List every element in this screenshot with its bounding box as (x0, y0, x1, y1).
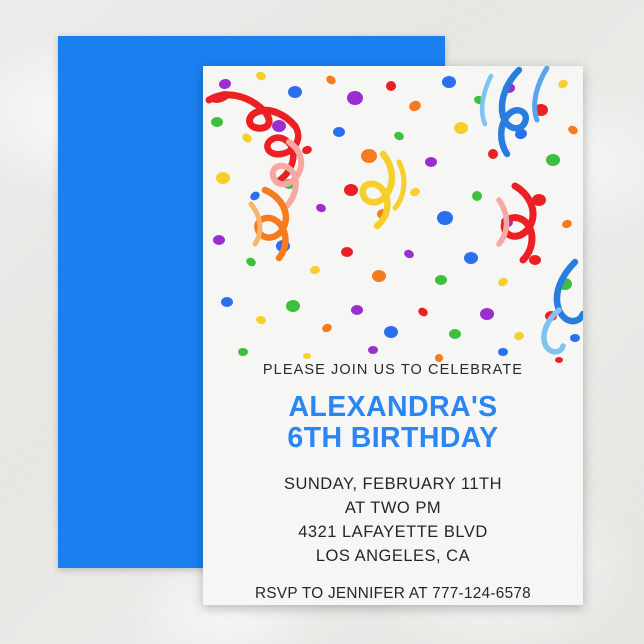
confetti-dot (344, 184, 358, 196)
confetti-dot (449, 329, 461, 339)
confetti-dot (325, 74, 338, 86)
confetti-dot (249, 190, 262, 202)
confetti-dot-group (211, 71, 580, 363)
confetti-dot (286, 300, 300, 312)
confetti-dot (368, 346, 378, 354)
confetti-dot (372, 270, 386, 282)
confetti-dot (425, 157, 437, 167)
rsvp-line: RSVP TO JENNIFER AT 777-124-6578 (203, 585, 583, 603)
confetti-dot (472, 191, 482, 201)
confetti-dot (377, 209, 389, 219)
confetti-dot (513, 331, 525, 341)
confetti-dot (255, 315, 267, 326)
confetti-dot (301, 145, 313, 156)
confetti-dot (333, 127, 345, 137)
confetti-dot (283, 179, 295, 189)
confetti-dot (221, 297, 233, 307)
confetti-artwork (203, 66, 583, 366)
confetti-dot (570, 334, 580, 342)
confetti-dot (361, 149, 377, 163)
confetti-dot (245, 256, 258, 268)
confetti-dot (567, 124, 580, 136)
confetti-dot (241, 132, 254, 145)
confetti-dot (403, 248, 415, 259)
celebrate-line: PLEASE JOIN US TO CELEBRATE (203, 362, 583, 378)
confetti-dot (309, 265, 321, 275)
detail-date: SUNDAY, FEBRUARY 11TH (203, 472, 583, 496)
orange-streamer-mid-left (251, 190, 286, 258)
detail-time: AT TWO PM (203, 496, 583, 520)
detail-city: LOS ANGELES, CA (203, 544, 583, 568)
confetti-dot (442, 76, 456, 88)
confetti-dot (393, 130, 405, 141)
confetti-dot (546, 154, 560, 166)
confetti-dot (384, 326, 398, 338)
confetti-dot (409, 186, 421, 197)
red-streamer-top-left (209, 89, 298, 182)
confetti-dot (341, 247, 353, 257)
confetti-dot (545, 311, 557, 321)
invitation-front-card[interactable]: PLEASE JOIN US TO CELEBRATE ALEXANDRA'S … (203, 66, 583, 605)
confetti-dot (488, 149, 498, 159)
confetti-dot (303, 353, 311, 359)
confetti-dot (464, 252, 478, 264)
confetti-dot (532, 194, 546, 206)
confetti-dot (272, 120, 286, 132)
invitation-text-block: PLEASE JOIN US TO CELEBRATE ALEXANDRA'S … (203, 362, 583, 603)
confetti-dot (218, 78, 232, 90)
confetti-dot (529, 255, 541, 265)
confetti-dot (417, 306, 430, 318)
confetti-dot (315, 203, 327, 214)
blue-streamer-right-edge (544, 262, 583, 352)
confetti-dot (558, 278, 572, 290)
confetti-dot (347, 91, 363, 105)
confetti-dot (534, 104, 548, 116)
confetti-dot (557, 78, 570, 90)
yellow-streamer-center (363, 154, 404, 226)
confetti-dot (216, 172, 230, 184)
confetti-dot (386, 81, 396, 91)
detail-street: 4321 LAFAYETTE BLVD (203, 520, 583, 544)
confetti-dot (351, 305, 363, 315)
confetti-dot (238, 348, 248, 356)
event-details: SUNDAY, FEBRUARY 11TH AT TWO PM 4321 LAF… (203, 472, 583, 569)
pink-streamer-top-left (273, 142, 301, 206)
confetti-dot (500, 216, 514, 229)
confetti-dot (255, 71, 267, 82)
occasion-line: 6TH BIRTHDAY (203, 423, 583, 454)
confetti-dot (211, 117, 223, 127)
confetti-dot (498, 348, 508, 356)
confetti-dot (480, 308, 494, 320)
confetti-dot (435, 275, 447, 285)
confetti-dot (561, 219, 573, 230)
confetti-dot (497, 276, 510, 288)
confetti-dot (437, 211, 453, 225)
confetti-dot (288, 86, 302, 98)
blue-streamer-top-right (482, 68, 547, 154)
honoree-name: ALEXANDRA'S (203, 392, 583, 423)
red-streamer-mid-right (499, 186, 533, 260)
confetti-dot (473, 95, 485, 105)
confetti-dot (503, 83, 515, 93)
confetti-dot (407, 99, 422, 113)
confetti-dot (514, 128, 528, 141)
confetti-dot (454, 122, 468, 134)
confetti-dot (321, 322, 333, 333)
confetti-dot (276, 240, 290, 252)
confetti-dot (435, 354, 443, 362)
confetti-dot (213, 235, 225, 245)
